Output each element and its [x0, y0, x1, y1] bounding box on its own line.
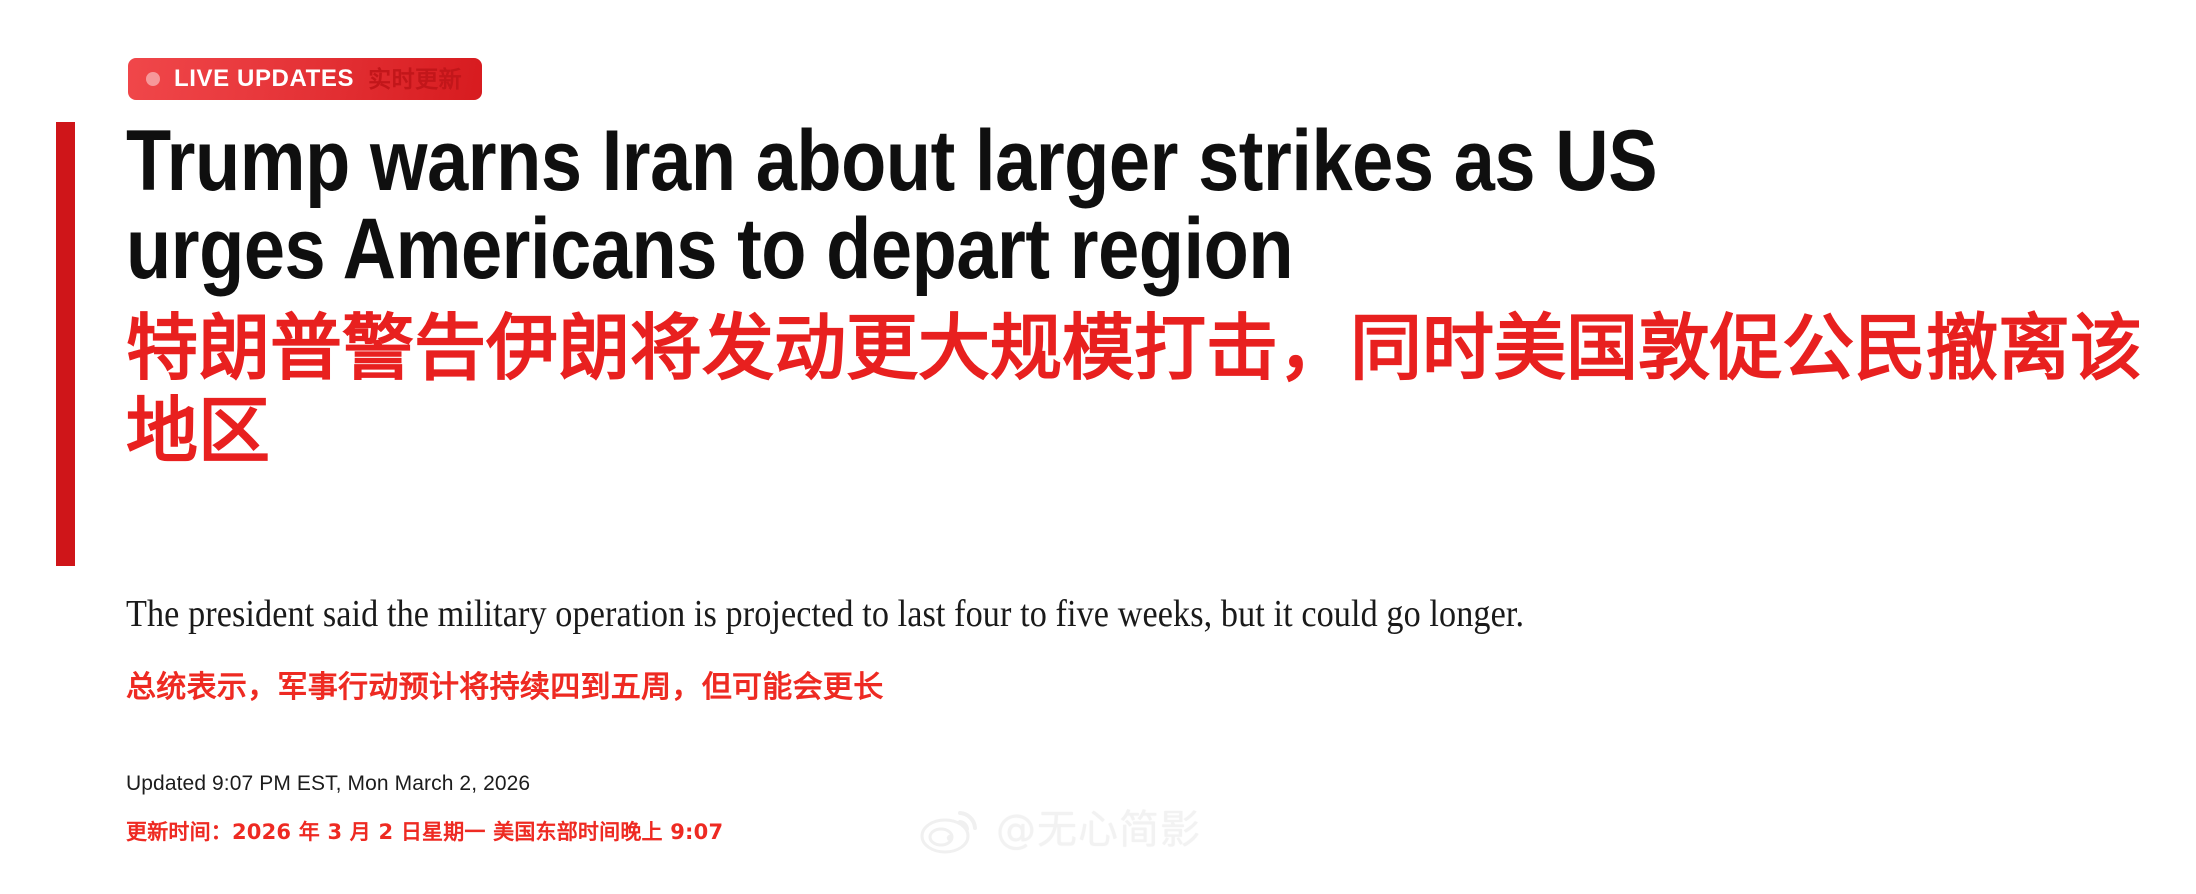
dek-chinese: 总统表示，军事行动预计将持续四到五周，但可能会更长	[126, 668, 2146, 707]
weibo-icon	[920, 805, 982, 855]
live-updates-badge[interactable]: LIVE UPDATES 实时更新	[128, 58, 482, 100]
dek-english: The president said the military operatio…	[126, 592, 1944, 638]
live-dot-icon	[146, 72, 160, 86]
headline-chinese: 特朗普警告伊朗将发动更大规模打击，同时美国敦促公民撤离该地区	[126, 307, 2186, 471]
headline-block: Trump warns Iran about larger strikes as…	[126, 118, 2136, 472]
timestamp-english: Updated 9:07 PM EST, Mon March 2, 2026	[126, 770, 723, 797]
headline-english-line-1: Trump warns Iran about larger strikes as…	[126, 118, 1855, 206]
headline-english: Trump warns Iran about larger strikes as…	[126, 118, 1855, 293]
article-hero: LIVE UPDATES 实时更新 Trump warns Iran about…	[0, 0, 2196, 894]
headline-english-line-2: urges Americans to depart region	[126, 206, 1855, 294]
timestamp-chinese: 更新时间：2026 年 3 月 2 日星期一 美国东部时间晚上 9:07	[126, 819, 723, 846]
dek-block: The president said the military operatio…	[126, 592, 2146, 707]
live-updates-label-zh: 实时更新	[368, 68, 462, 91]
weibo-handle: @无心简影	[996, 810, 1201, 850]
live-updates-label-en: LIVE UPDATES	[174, 67, 354, 91]
live-updates-badge-row: LIVE UPDATES 实时更新	[128, 58, 482, 100]
weibo-watermark: @无心简影	[920, 805, 1201, 855]
accent-rule	[56, 122, 75, 566]
timestamp-block: Updated 9:07 PM EST, Mon March 2, 2026 更…	[126, 770, 723, 847]
